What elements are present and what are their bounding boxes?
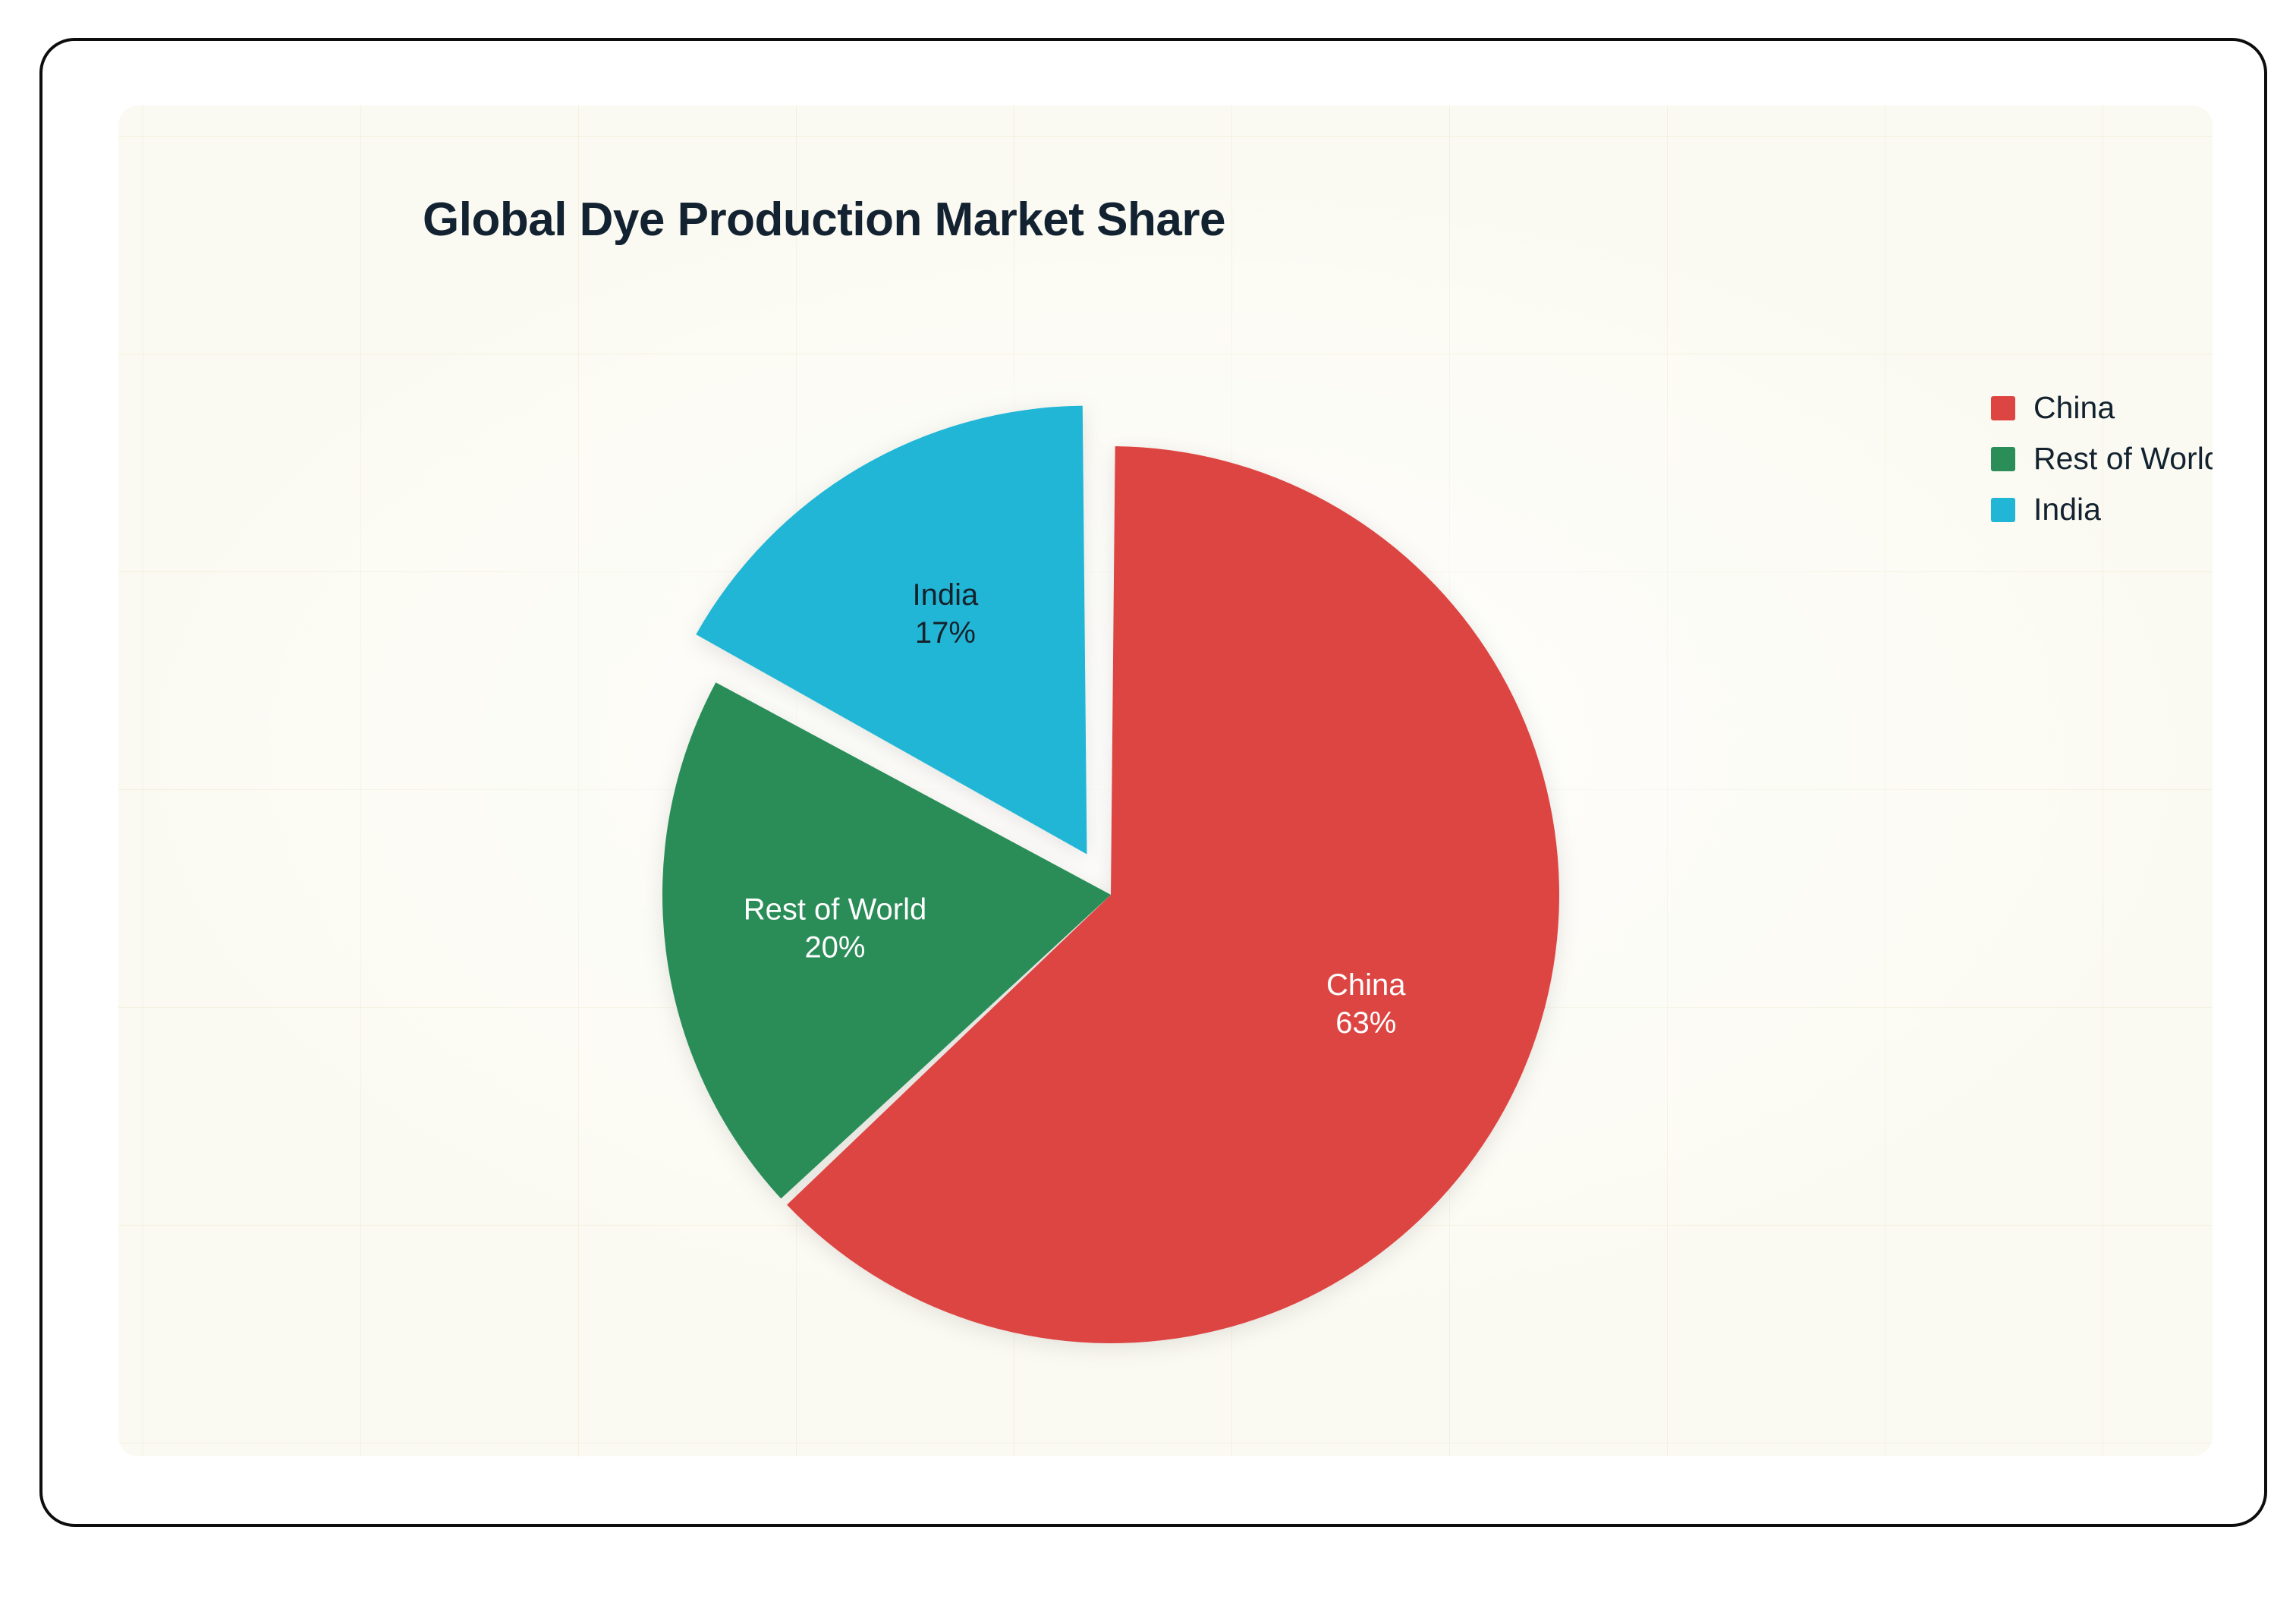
panel-gridlines [118,105,2213,1456]
pie-svg: China63%Rest of World20%India17% [118,105,2213,1456]
panel-vignette [118,105,2213,1456]
legend-swatch-icon [1991,498,2015,522]
pie-slice-name-label: India [913,578,979,612]
legend-item-label: Rest of World [2033,443,2213,474]
chart-card: Global Dye Production Market Share China… [39,38,2267,1527]
pie-slice-value-label: 63% [1335,1006,1396,1040]
pie-chart: China63%Rest of World20%India17% [118,105,2213,1456]
legend-item-china[interactable]: China [1991,392,2213,423]
legend-swatch-icon [1991,447,2015,471]
legend-item-rest-of-world[interactable]: Rest of World [1991,443,2213,474]
chart-legend: China Rest of World India [1991,392,2213,525]
legend-item-label: China [2033,392,2115,423]
pie-slice[interactable] [696,406,1087,855]
pie-slice-name-label: China [1326,968,1406,1002]
pie-slice-name-label: Rest of World [744,892,927,926]
pie-slice[interactable] [662,682,1111,1198]
pie-slice-value-label: 17% [915,616,976,650]
chart-panel: Global Dye Production Market Share China… [118,105,2213,1456]
pie-slice[interactable] [787,446,1559,1343]
chart-title: Global Dye Production Market Share [118,193,1530,247]
pie-slice-value-label: 20% [804,930,865,964]
pie-slice-labels: China63%Rest of World20%India17% [744,578,1407,1040]
legend-swatch-icon [1991,396,2015,420]
legend-item-india[interactable]: India [1991,494,2213,525]
legend-item-label: India [2033,494,2101,525]
pie-slices [662,406,1559,1343]
